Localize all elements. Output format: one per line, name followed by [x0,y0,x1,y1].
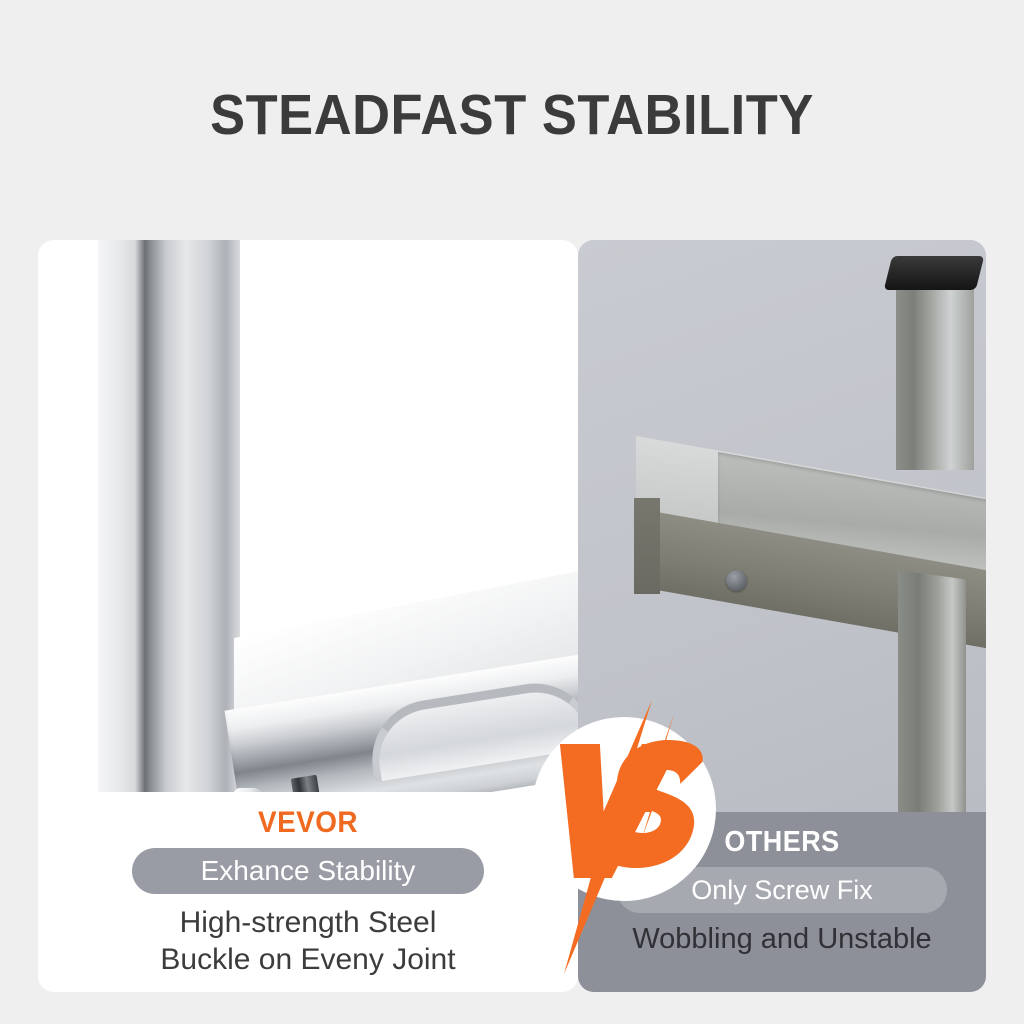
vevor-description-line1: High-strength Steel [38,904,578,941]
page-title: STEADFAST STABILITY [41,82,983,148]
table-leg-lower [898,570,966,812]
table-apron-end [634,498,660,594]
screw-icon [726,570,747,591]
others-caption: OTHERS Only Screw Fix Wobbling and Unsta… [578,812,986,992]
vevor-panel: VEVOR Exhance Stability High-strength St… [38,240,578,992]
comparison-container: VEVOR Exhance Stability High-strength St… [38,240,986,992]
others-description: Wobbling and Unstable [578,922,986,957]
others-brand-label: OTHERS [592,826,971,859]
black-plastic-cap [884,256,984,290]
vevor-feature-pill: Exhance Stability [132,848,484,894]
vevor-description-line2: Buckle on Eveny Joint [38,941,578,978]
vevor-description: High-strength Steel Buckle on Eveny Join… [38,904,578,978]
table-leg-upper [896,280,974,470]
vevor-brand-label: VEVOR [57,806,559,840]
others-feature-pill: Only Screw Fix [617,867,947,913]
others-panel: OTHERS Only Screw Fix Wobbling and Unsta… [578,240,986,992]
vevor-caption: VEVOR Exhance Stability High-strength St… [38,792,578,992]
others-product-photo [578,240,986,812]
